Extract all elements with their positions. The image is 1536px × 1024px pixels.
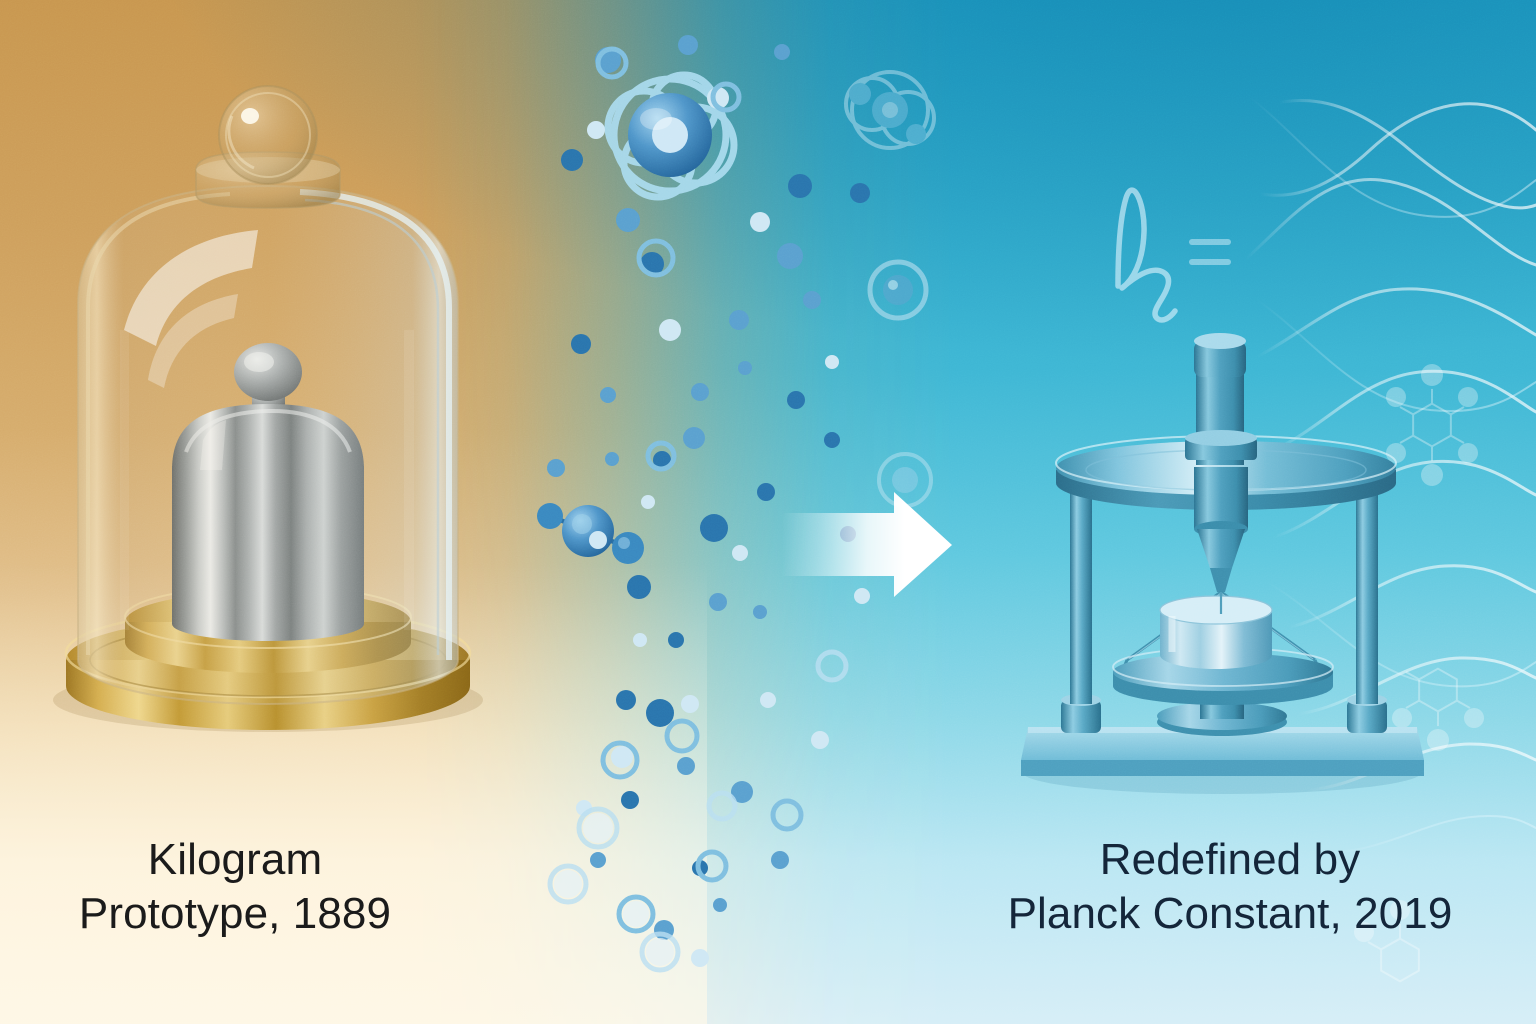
arrow-right-icon (782, 492, 952, 597)
equals-glyph (1192, 242, 1228, 262)
illustration-canvas: Kilogram Prototype, 1889 Redefined by Pl… (0, 0, 1536, 1024)
atom-orbit-icon (608, 75, 734, 197)
jar-knob (219, 86, 317, 184)
molecule-node-dot (1427, 729, 1449, 751)
atom-orbit-icon (846, 72, 934, 148)
atom-orbit-icon (879, 454, 931, 506)
brass-base (66, 586, 470, 730)
cylinder-knob (234, 343, 302, 401)
hexagon-molecule-icon (1406, 669, 1470, 726)
molecule-node-dot (1464, 708, 1484, 728)
test-mass (1160, 596, 1272, 669)
pedestal (1157, 666, 1287, 736)
molecule-node-dot (1458, 443, 1478, 463)
planck-h-glyph (1118, 190, 1175, 320)
warm-bottom-glow (0, 563, 707, 1024)
suspension-wires (1122, 592, 1320, 672)
three-atom-molecule-icon (537, 503, 644, 564)
molecule-node-dot (1458, 387, 1478, 407)
central-shaft (1185, 333, 1257, 592)
molecule-node-dot (1392, 708, 1412, 728)
top-plate (1056, 436, 1396, 510)
glass-bell-jar (78, 86, 458, 704)
molecule-node-dot (1386, 443, 1406, 463)
molecule-node-dot (1386, 387, 1406, 407)
support-columns (1061, 472, 1387, 733)
balance-pan (1113, 648, 1333, 705)
balance-base-slab (1021, 727, 1424, 776)
metal-cylinder-weight (172, 343, 364, 641)
molecule-node-dot (1421, 364, 1443, 386)
atom-orbit-icon (870, 262, 926, 318)
particle-dots (547, 35, 870, 970)
hexagon-molecule-icon (1400, 389, 1464, 461)
base-shadow (53, 668, 483, 732)
right-caption: Redefined by Planck Constant, 2019 (950, 833, 1510, 940)
left-caption: Kilogram Prototype, 1889 (0, 833, 470, 940)
molecule-node-dot (1421, 464, 1443, 486)
